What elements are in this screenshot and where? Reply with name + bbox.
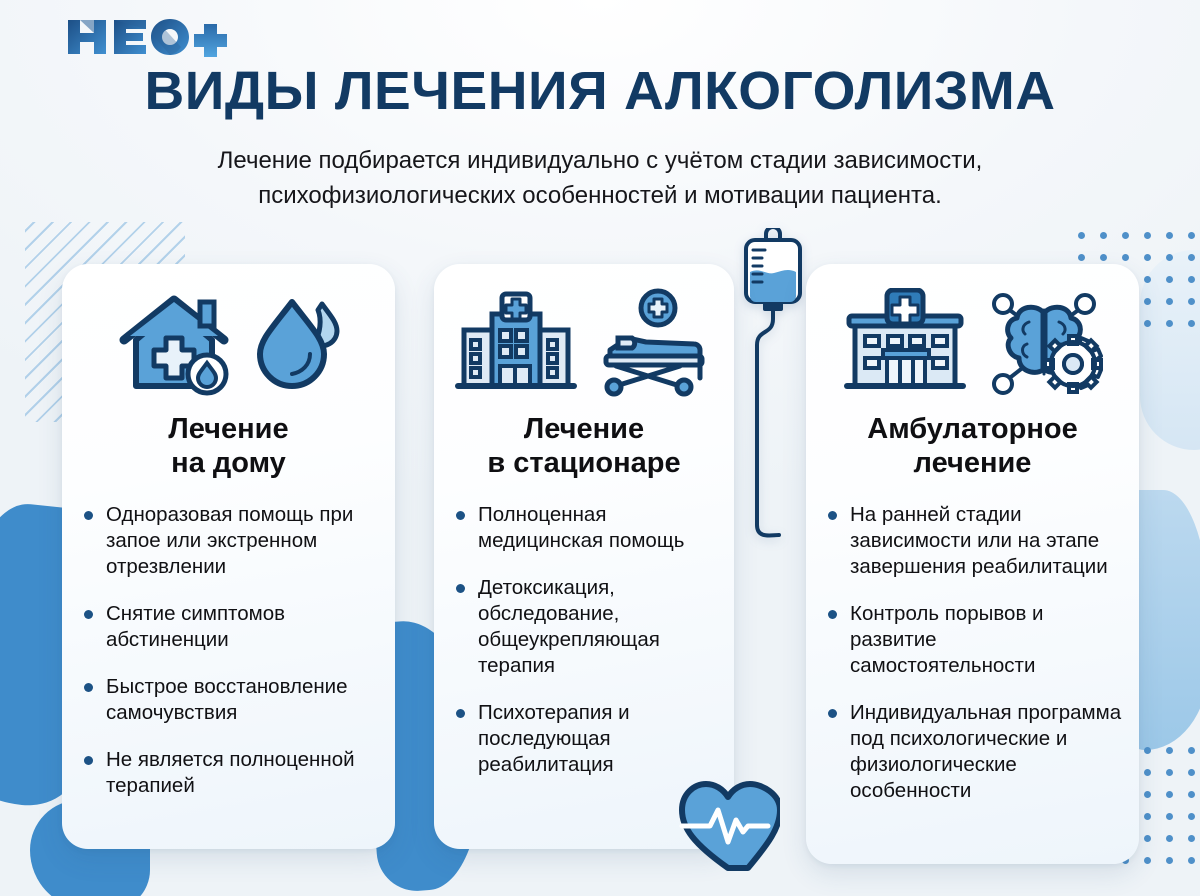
heart-pulse-icon xyxy=(676,778,780,874)
card-outpatient-treatment[interactable]: Амбулаторное лечение На ранней стадии за… xyxy=(806,264,1139,864)
clinic-building-icon xyxy=(843,288,967,398)
brain-gear-icon xyxy=(985,288,1103,398)
list-item: Индивидуальная программа под психологиче… xyxy=(828,700,1125,804)
card-home-treatment[interactable]: Лечение на дому Одноразовая помощь при з… xyxy=(62,264,395,849)
card-bullet-list: Полноценная медицинская помощь Детоксика… xyxy=(434,502,734,778)
list-item: Полноценная медицинская помощь xyxy=(456,502,720,554)
card-title-line-1: Лечение xyxy=(446,412,722,446)
list-item: Психотерапия и последующая реабилитация xyxy=(456,700,720,778)
card-title-line-1: Амбулаторное xyxy=(818,412,1127,446)
list-item: На ранней стадии зависимости или на этап… xyxy=(828,502,1125,580)
page-subtitle: Лечение подбирается индивидуально с учёт… xyxy=(95,143,1105,213)
list-item: Детоксикация, обследование, общеукрепляю… xyxy=(456,575,720,679)
list-item: Быстрое восстановление самочувствия xyxy=(84,674,381,726)
card-title: Амбулаторное лечение xyxy=(806,412,1139,480)
card-title-line-2: лечение xyxy=(818,446,1127,480)
hospital-building-icon xyxy=(454,288,578,398)
card-icons xyxy=(434,278,734,408)
list-item: Не является полноценной терапией xyxy=(84,747,381,799)
neo-plus-logo-icon xyxy=(64,14,254,60)
card-title-line-1: Лечение xyxy=(74,412,383,446)
card-icons xyxy=(62,278,395,408)
brand-logo[interactable] xyxy=(64,14,254,60)
card-title-line-2: на дому xyxy=(74,446,383,480)
card-title-line-2: в стационаре xyxy=(446,446,722,480)
water-drop-icon xyxy=(252,288,344,398)
list-item: Снятие симптомов абстиненции xyxy=(84,601,381,653)
card-bullet-list: Одноразовая помощь при запое или экстрен… xyxy=(62,502,395,799)
card-bullet-list: На ранней стадии зависимости или на этап… xyxy=(806,502,1139,804)
list-item: Контроль порывов и развитие самостоятель… xyxy=(828,601,1125,679)
list-item: Одноразовая помощь при запое или экстрен… xyxy=(84,502,381,580)
card-icons xyxy=(806,278,1139,408)
card-inpatient-treatment[interactable]: Лечение в стационаре Полноценная медицин… xyxy=(434,264,734,849)
page-title: ВИДЫ ЛЕЧЕНИЯ АЛКОГОЛИЗМА xyxy=(0,62,1200,120)
card-title: Лечение в стационаре xyxy=(434,412,734,480)
infographic-canvas: ВИДЫ ЛЕЧЕНИЯ АЛКОГОЛИЗМА Лечение подбира… xyxy=(0,0,1200,896)
card-title: Лечение на дому xyxy=(62,412,395,480)
hospital-bed-icon xyxy=(596,288,714,398)
house-medical-icon xyxy=(114,288,234,398)
